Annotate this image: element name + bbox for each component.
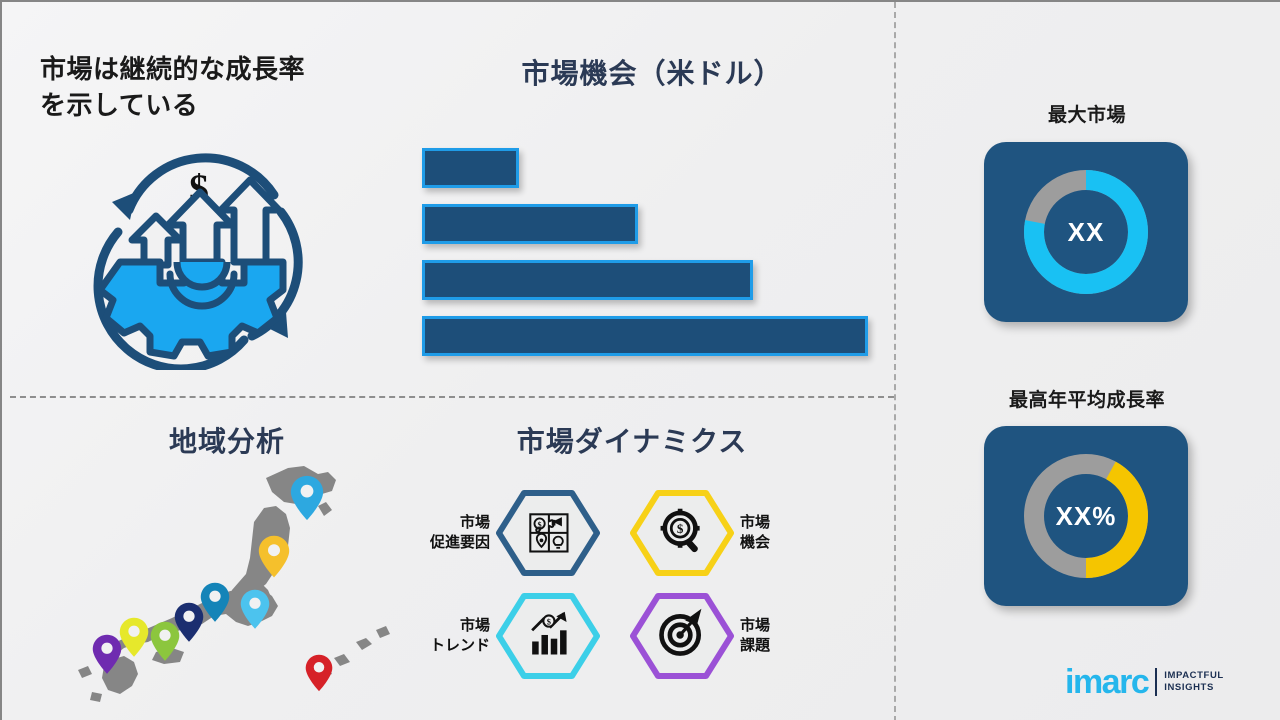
highest-cagr-card: XX%	[984, 426, 1188, 606]
imarc-logo: imarc IMPACTFUL INSIGHTS	[1065, 665, 1224, 699]
growth-cycle-gear-icon: $	[74, 140, 324, 370]
svg-text:$: $	[677, 520, 684, 535]
region-title: 地域分析	[62, 420, 392, 460]
opportunity-bar-chart	[422, 148, 882, 358]
dynamics-item[interactable]: 市場 課題	[630, 587, 852, 684]
pin-hokkaido	[290, 475, 324, 521]
horizontal-divider	[10, 396, 894, 398]
largest-market-donut	[1011, 157, 1161, 307]
bar-3	[422, 260, 753, 300]
dynamics-item-label: 市場 課題	[740, 616, 828, 654]
highest-cagr-title: 最高年平均成長率	[957, 385, 1217, 412]
dynamics-title: 市場ダイナミクス	[442, 420, 822, 460]
infographic-slide: 市場は継続的な成長率 を示している $	[0, 0, 1280, 720]
target-arrow-icon[interactable]	[630, 593, 734, 679]
bar-2	[422, 204, 638, 244]
opportunity-title: 市場機会（米ドル）	[422, 52, 882, 92]
largest-market-title: 最大市場	[957, 100, 1217, 127]
magnifier-dollar-icon[interactable]: $	[630, 490, 734, 576]
svg-text:$: $	[547, 617, 551, 626]
dynamics-item-label: 市場 トレンド	[402, 616, 490, 654]
bar-4	[422, 316, 868, 356]
puzzle-pieces-icon[interactable]: $	[496, 490, 600, 576]
dynamics-item[interactable]: $市場 機会	[630, 484, 852, 581]
growth-title: 市場は継続的な成長率 を示している	[40, 52, 380, 124]
pin-tohoku	[258, 535, 290, 578]
svg-text:$: $	[538, 520, 542, 529]
pin-chugoku	[150, 621, 180, 662]
pin-shikoku	[119, 617, 149, 658]
vertical-divider	[894, 2, 896, 720]
imarc-tagline: IMPACTFUL INSIGHTS	[1164, 670, 1224, 694]
pin-kyushu	[92, 634, 122, 675]
bar-chart-growth-icon[interactable]: $	[496, 593, 600, 679]
imarc-wordmark: imarc	[1065, 665, 1148, 699]
dynamics-grid: 市場 促進要因$$市場 機会市場 トレンド$市場 課題	[402, 484, 852, 684]
dynamics-item-label: 市場 機会	[740, 513, 828, 551]
dynamics-item[interactable]: 市場 促進要因$	[402, 484, 624, 581]
pin-chubu	[200, 582, 230, 623]
dynamics-item[interactable]: 市場 トレンド$	[402, 587, 624, 684]
dynamics-item-label: 市場 促進要因	[402, 513, 490, 551]
pin-okinawa	[305, 654, 333, 692]
largest-market-card: XX	[984, 142, 1188, 322]
logo-separator	[1155, 668, 1157, 696]
highest-cagr-donut	[1011, 441, 1161, 591]
bar-1	[422, 148, 519, 188]
pin-kanto	[240, 589, 270, 630]
